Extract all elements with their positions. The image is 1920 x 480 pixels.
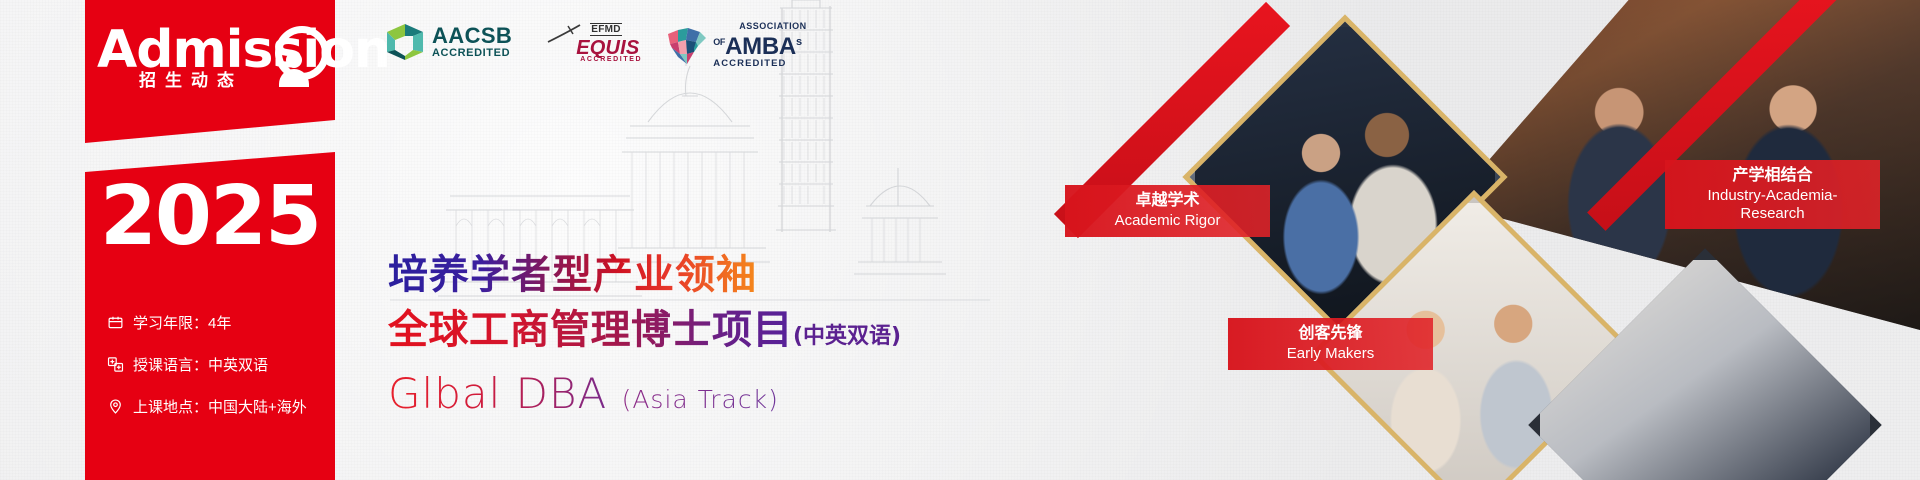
ribbon-early-makers-cn: 创客先锋 [1242, 325, 1419, 344]
amba-logo: ASSOCIATION OFAMBAs ACCREDITED [666, 22, 806, 69]
accreditation-logos: AACSB ACCREDITED EFMD EQUIS ACCREDITED [385, 22, 807, 69]
ribbon-industry-cn: 产学相结合 [1679, 167, 1866, 186]
fact-language: 授课语言：中英双语 [107, 354, 337, 375]
headline-program-en: Glbal DBA (Asia Track) [388, 367, 901, 427]
amba-of-label: OF [713, 37, 725, 47]
headline-program-cn-note: (中英双语) [793, 324, 901, 349]
headline-block: 培养学者型产业领袖 全球工商管理博士项目(中英双语) Glbal DBA (As… [388, 252, 901, 427]
aacsb-logo: AACSB ACCREDITED [385, 22, 512, 62]
program-facts-list: 学习年限：4年 授课语言：中英双语 [107, 312, 337, 438]
admission-banner: Admission 招生动态 2025 学习年限：4年 [0, 0, 1920, 480]
amba-accredited-label: ACCREDITED [713, 59, 806, 69]
amba-plural-suffix: s [796, 36, 802, 48]
ribbon-early-makers-en: Early Makers [1242, 345, 1419, 363]
fact-location: 上课地点：中国大陆+海外 [107, 396, 337, 417]
admission-logo: Admission 招生动态 [97, 24, 337, 104]
efmd-label: EFMD [590, 23, 622, 36]
equis-logo: EFMD EQUIS ACCREDITED [546, 22, 632, 64]
headline-tagline: 培养学者型产业领袖 [388, 252, 901, 298]
fact-location-label: 上课地点：中国大陆+海外 [133, 396, 307, 417]
fact-duration: 学习年限：4年 [107, 312, 337, 333]
ribbon-industry-academia-research: 产学相结合 Industry-Academia-Research [1665, 160, 1880, 229]
admission-logo-chinese: 招生动态 [139, 66, 243, 91]
equis-accredited-label: ACCREDITED [580, 56, 642, 63]
headline-program-cn: 全球工商管理博士项目(中英双语) [388, 302, 901, 365]
aacsb-logo-icon [385, 22, 425, 62]
ribbon-academic-rigor-cn: 卓越学术 [1079, 192, 1256, 211]
fact-duration-label: 学习年限：4年 [133, 312, 231, 333]
amba-name: AMBA [725, 33, 796, 60]
person-in-circle-icon [275, 26, 329, 80]
fact-language-label: 授课语言：中英双语 [133, 354, 268, 375]
left-red-panel: Admission 招生动态 2025 学习年限：4年 [85, 0, 335, 480]
ribbon-academic-rigor: 卓越学术 Academic Rigor [1065, 185, 1270, 237]
photo-collage [1150, 0, 1920, 480]
aacsb-name: AACSB [432, 23, 512, 48]
ribbon-industry-en: Industry-Academia-Research [1679, 187, 1866, 222]
headline-program-cn-text: 全球工商管理博士项目 [388, 307, 793, 353]
headline-program-en-text: Glbal DBA [388, 369, 607, 418]
location-icon [107, 398, 124, 415]
headline-program-en-track: (Asia Track) [622, 385, 779, 414]
year-label: 2025 [85, 176, 335, 258]
person-glyph-icon [286, 52, 302, 68]
calendar-icon [107, 314, 124, 331]
ribbon-academic-rigor-en: Academic Rigor [1079, 212, 1256, 230]
ribbon-early-makers: 创客先锋 Early Makers [1228, 318, 1433, 370]
aacsb-accredited-label: ACCREDITED [432, 48, 512, 59]
amba-association-label: ASSOCIATION [739, 22, 806, 31]
language-icon [107, 356, 124, 373]
dome-building-illustration [614, 58, 770, 262]
amba-logo-icon [666, 24, 708, 66]
